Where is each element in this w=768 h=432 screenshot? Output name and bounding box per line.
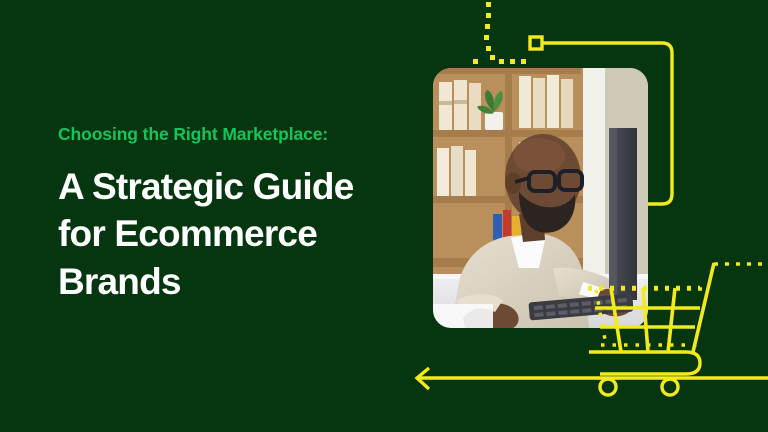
cart-wheel-right [662, 379, 678, 395]
page-title: A Strategic Guide for Ecommerce Brands [58, 163, 408, 305]
office-photo-illustration [433, 68, 648, 328]
headline-line-3: Brands [58, 258, 408, 305]
hero-text-block: Choosing the Right Marketplace: A Strate… [58, 124, 408, 305]
hero-banner: Choosing the Right Marketplace: A Strate… [0, 0, 768, 432]
hero-photo [433, 68, 648, 328]
headline-line-2: for Ecommerce [58, 210, 408, 257]
dotted-elbow-icon [473, 2, 526, 64]
square-node-icon [530, 37, 542, 49]
left-arrow-icon [417, 368, 768, 389]
cart-wheel-left [600, 379, 616, 395]
headline-line-1: A Strategic Guide [58, 163, 408, 210]
eyebrow-text: Choosing the Right Marketplace: [58, 124, 408, 145]
